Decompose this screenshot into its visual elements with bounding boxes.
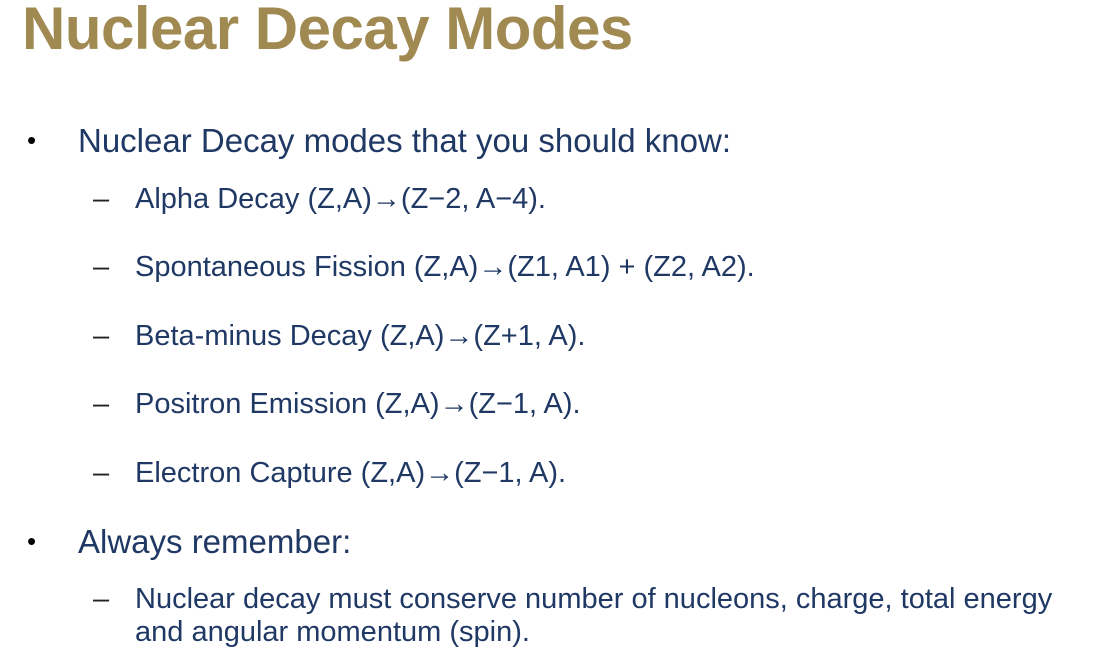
slide-body: • Nuclear Decay modes that you should kn… [0,122,1118,648]
bullet-item-primary: • Always remember: [0,523,1118,562]
sub-bullet-item: – Nuclear decay must conserve number of … [0,583,1118,648]
sub-bullet-item: – Spontaneous Fission (Z,A)→(Z1, A1) + (… [0,251,1118,283]
dash-marker-icon: – [93,183,108,215]
spacer [0,284,1118,320]
bullet-label: Nuclear Decay modes that you should know… [78,122,731,159]
slide-canvas: Nuclear Decay Modes • Nuclear Decay mode… [0,0,1118,663]
spacer [0,215,1118,251]
dash-marker-icon: – [93,320,108,352]
dash-marker-icon: – [93,457,108,489]
sub-bullet-item: – Alpha Decay (Z,A)→(Z−2, A−4). [0,183,1118,215]
sub-bullet-label: Beta-minus Decay (Z,A)→(Z+1, A). [135,320,585,352]
sub-bullet-label: Alpha Decay (Z,A)→(Z−2, A−4). [135,183,546,215]
spacer [0,161,1118,183]
spacer [0,421,1118,457]
dash-marker-icon: – [93,388,108,420]
sub-bullet-item: – Beta-minus Decay (Z,A)→(Z+1, A). [0,320,1118,352]
sub-bullet-label: Spontaneous Fission (Z,A)→(Z1, A1) + (Z2… [135,251,755,283]
bullet-dot-icon: • [27,122,36,159]
spacer [0,352,1118,388]
sub-bullet-label: Nuclear decay must conserve number of nu… [135,583,1052,647]
spacer [0,489,1118,523]
page-title: Nuclear Decay Modes [22,0,633,63]
sub-bullet-label: Electron Capture (Z,A)→(Z−1, A). [135,457,566,489]
dash-marker-icon: – [93,583,108,615]
bullet-label: Always remember: [78,523,351,560]
sub-bullet-item: – Positron Emission (Z,A)→(Z−1, A). [0,388,1118,420]
dash-marker-icon: – [93,251,108,283]
sub-bullet-item: – Electron Capture (Z,A)→(Z−1, A). [0,457,1118,489]
bullet-dot-icon: • [27,523,36,560]
bullet-item-primary: • Nuclear Decay modes that you should kn… [0,122,1118,161]
spacer [0,562,1118,583]
sub-bullet-label: Positron Emission (Z,A)→(Z−1, A). [135,388,581,420]
